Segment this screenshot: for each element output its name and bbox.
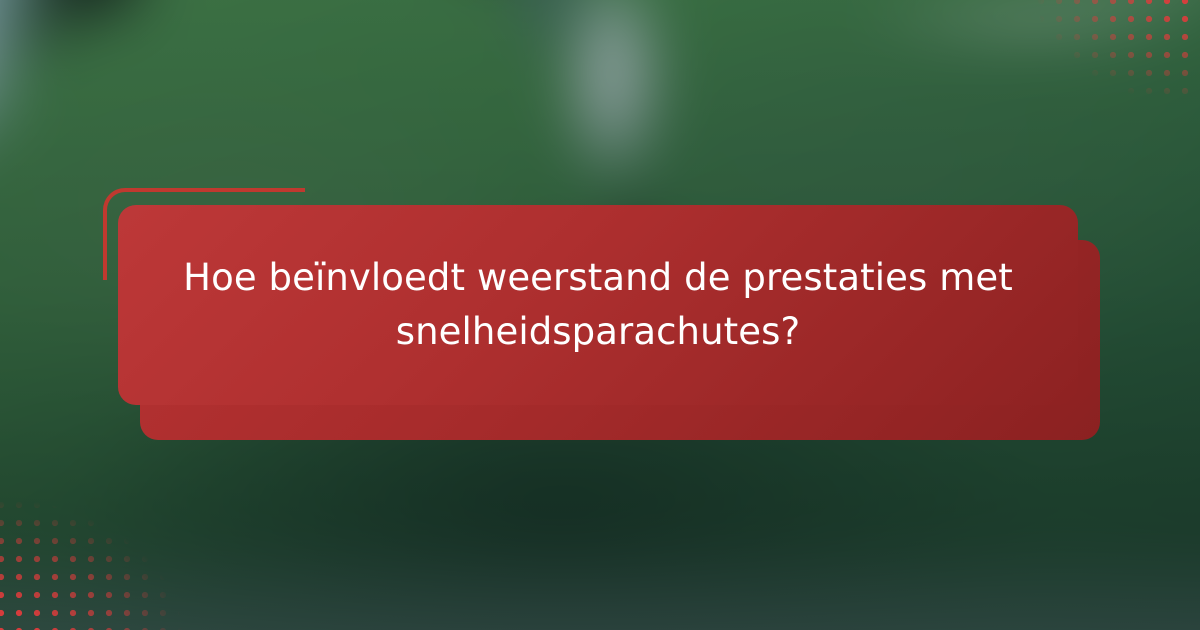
title-card: Hoe beïnvloedt weerstand de prestaties m…	[118, 205, 1078, 405]
share-card-canvas: Hoe beïnvloedt weerstand de prestaties m…	[0, 0, 1200, 630]
halftone-dots-top-right-icon	[996, 0, 1200, 122]
halftone-dots-bottom-left-icon	[0, 478, 222, 630]
page-title: Hoe beïnvloedt weerstand de prestaties m…	[118, 251, 1078, 358]
